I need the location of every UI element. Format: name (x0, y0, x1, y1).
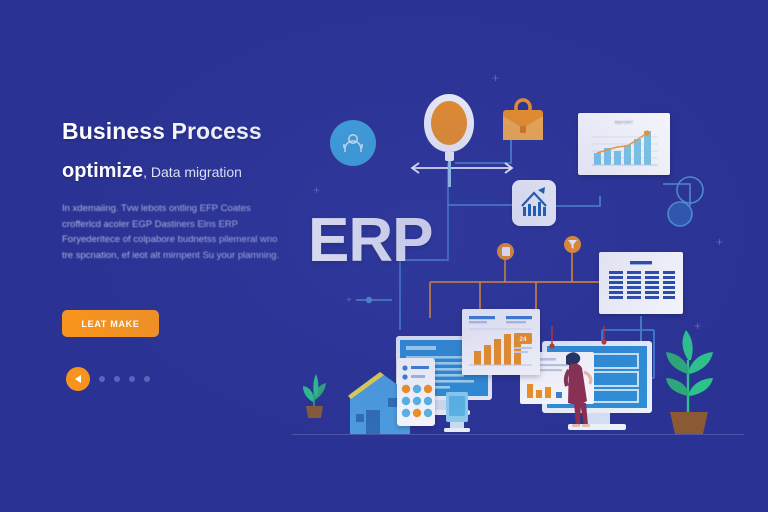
learn-more-button[interactable]: LEAT MAKE (62, 310, 159, 337)
dashboard-bar-card: 24 (462, 309, 540, 375)
page-title: Business Process (62, 118, 302, 144)
page-subtitle: optimize, Data migration (62, 160, 302, 183)
erp-wordmark: ERP (308, 210, 432, 272)
carousel-dot[interactable] (114, 376, 120, 382)
plant-icon (303, 374, 326, 418)
hero-copy: Business Process optimize, Data migratio… (62, 118, 302, 263)
plant-icon (666, 330, 713, 434)
carousel-dot[interactable] (99, 376, 105, 382)
carousel-dot[interactable] (144, 376, 150, 382)
triangle-left-icon (75, 375, 81, 383)
subtitle-strong: optimize (62, 160, 143, 182)
hero-description: In xdemaiing. Tvw lebots ontling EFP Coa… (62, 201, 280, 263)
carousel-controls (66, 367, 150, 391)
mobile-app-card (397, 358, 435, 426)
ground-line (292, 434, 744, 435)
subtitle-light: , Data migration (143, 164, 242, 180)
carousel-prev-button[interactable] (66, 367, 90, 391)
carousel-dot[interactable] (129, 376, 135, 382)
svg-text:24: 24 (519, 336, 527, 343)
hero-banner: + + + + + (0, 0, 768, 512)
